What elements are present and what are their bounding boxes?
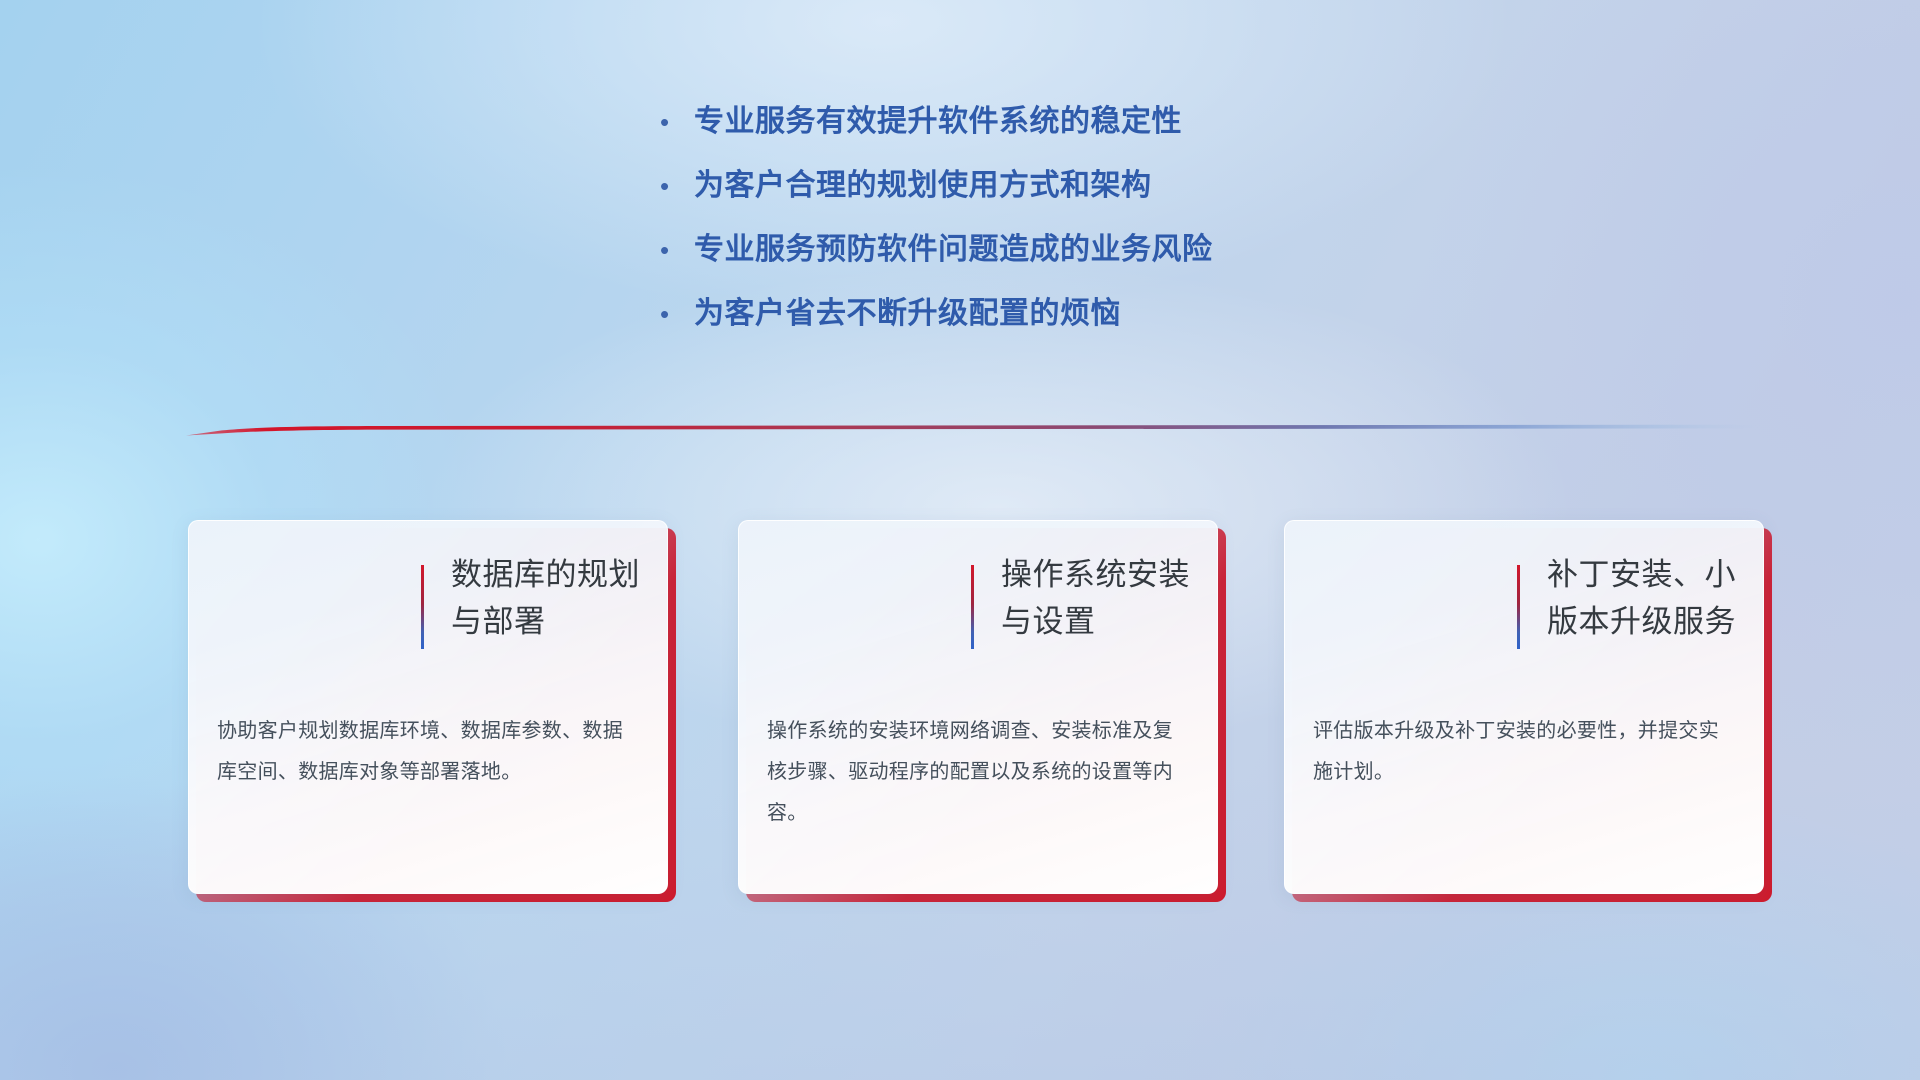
- card-surface: 补丁安装、小版本升级服务 评估版本升级及补丁安装的必要性，并提交实施计划。: [1284, 520, 1764, 894]
- card-surface: 数据库的规划与部署 协助客户规划数据库环境、数据库参数、数据库空间、数据库对象等…: [188, 520, 668, 894]
- list-item: • 专业服务预防软件问题造成的业务风险: [660, 228, 1480, 292]
- bullet-text: 专业服务预防软件问题造成的业务风险: [694, 228, 1213, 272]
- card-surface: 操作系统安装与设置 操作系统的安装环境网络调查、安装标准及复核步骤、驱动程序的配…: [738, 520, 1218, 894]
- card-title: 操作系统安装与设置: [1001, 551, 1209, 645]
- service-card-group: 数据库的规划与部署 协助客户规划数据库环境、数据库参数、数据库空间、数据库对象等…: [188, 520, 1788, 912]
- card-header: 操作系统安装与设置: [739, 521, 1217, 685]
- benefits-bullet-list: • 专业服务有效提升软件系统的稳定性 • 为客户合理的规划使用方式和架构 • 专…: [660, 100, 1480, 356]
- bullet-dot-icon: •: [660, 228, 694, 272]
- list-item: • 为客户合理的规划使用方式和架构: [660, 164, 1480, 228]
- card-header: 补丁安装、小版本升级服务: [1285, 521, 1763, 685]
- bullet-dot-icon: •: [660, 292, 694, 336]
- card-description: 操作系统的安装环境网络调查、安装标准及复核步骤、驱动程序的配置以及系统的设置等内…: [767, 711, 1187, 834]
- card-ghost-number-02: [761, 549, 957, 665]
- card-title: 补丁安装、小版本升级服务: [1547, 551, 1755, 645]
- card-title: 数据库的规划与部署: [451, 551, 659, 645]
- service-card[interactable]: 操作系统安装与设置 操作系统的安装环境网络调查、安装标准及复核步骤、驱动程序的配…: [738, 520, 1226, 902]
- service-card[interactable]: 数据库的规划与部署 协助客户规划数据库环境、数据库参数、数据库空间、数据库对象等…: [188, 520, 676, 902]
- card-ghost-number-01: [211, 549, 407, 665]
- section-divider: [186, 424, 1766, 438]
- bullet-text: 为客户省去不断升级配置的烦恼: [694, 292, 1121, 336]
- bullet-text: 为客户合理的规划使用方式和架构: [694, 164, 1152, 208]
- card-description: 评估版本升级及补丁安装的必要性，并提交实施计划。: [1313, 711, 1733, 793]
- card-title-accent-rule: [421, 565, 424, 649]
- service-card[interactable]: 补丁安装、小版本升级服务 评估版本升级及补丁安装的必要性，并提交实施计划。: [1284, 520, 1772, 902]
- list-item: • 为客户省去不断升级配置的烦恼: [660, 292, 1480, 356]
- card-title-accent-rule: [1517, 565, 1520, 649]
- card-header: 数据库的规划与部署: [189, 521, 667, 685]
- card-ghost-number-03: [1307, 549, 1503, 665]
- card-title-accent-rule: [971, 565, 974, 649]
- card-description: 协助客户规划数据库环境、数据库参数、数据库空间、数据库对象等部署落地。: [217, 711, 637, 793]
- bullet-text: 专业服务有效提升软件系统的稳定性: [694, 100, 1182, 144]
- bullet-dot-icon: •: [660, 100, 694, 144]
- list-item: • 专业服务有效提升软件系统的稳定性: [660, 100, 1480, 164]
- bullet-dot-icon: •: [660, 164, 694, 208]
